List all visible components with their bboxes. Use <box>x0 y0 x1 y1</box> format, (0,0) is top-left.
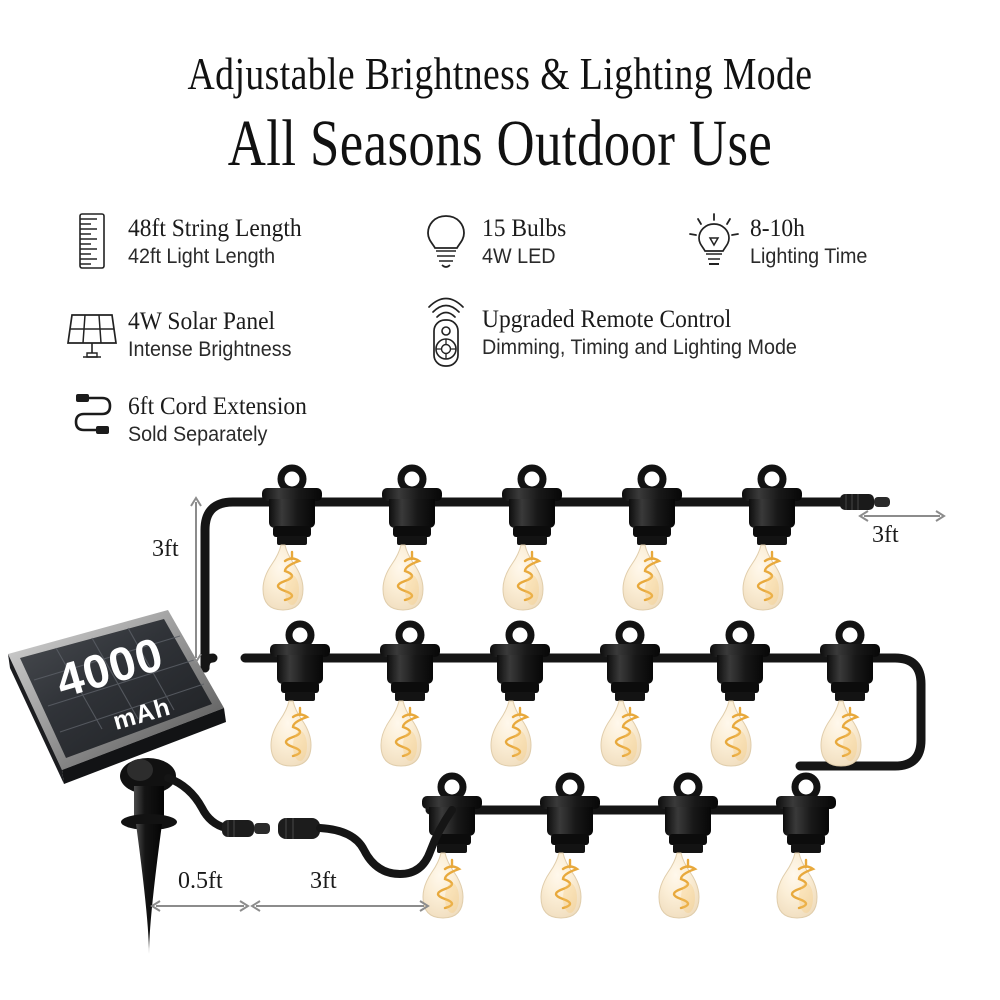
feature-text: Upgraded Remote Control Dimming, Timing … <box>482 303 817 361</box>
feature-lighting-time: 8-10h Lighting Time <box>688 212 875 270</box>
feature-solar-panel: 4W Solar Panel Intense Brightness <box>66 305 302 363</box>
bulb-row-2 <box>270 624 880 766</box>
solar-panel-unit: 4000 mAh <box>8 610 226 954</box>
feature-text: 8-10h Lighting Time <box>750 212 875 270</box>
feature-text: 15 Bulbs 4W LED <box>482 212 572 270</box>
feature-secondary: 4W LED <box>482 243 566 270</box>
product-diagram: 4000 mAh <box>0 440 1000 1000</box>
feature-primary: 6ft Cord Extension <box>128 392 307 421</box>
cord-connector-female <box>278 818 320 839</box>
feature-secondary: Lighting Time <box>750 243 867 270</box>
feature-primary: 48ft String Length <box>128 214 302 243</box>
feature-primary: 15 Bulbs <box>482 214 566 243</box>
feature-secondary: 42ft Light Length <box>128 243 302 270</box>
ruler-icon <box>66 212 118 270</box>
dimension-end-lead: 3ft <box>872 522 899 549</box>
dimension-stake-to-connector: 0.5ft <box>178 868 223 895</box>
feature-text: 48ft String Length 42ft Light Length <box>128 212 313 270</box>
feature-primary: 4W Solar Panel <box>128 307 292 336</box>
cord-connector-male <box>222 820 270 837</box>
feature-text: 4W Solar Panel Intense Brightness <box>128 305 302 363</box>
headline-line-1: Adjustable Brightness & Lighting Mode <box>90 48 910 100</box>
feature-secondary: Intense Brightness <box>128 336 292 363</box>
feature-secondary: Dimming, Timing and Lighting Mode <box>482 334 797 361</box>
dimension-drop-height: 3ft <box>152 536 179 563</box>
solar-panel-icon <box>66 305 118 363</box>
cord-end-connector <box>840 494 890 510</box>
feature-string-length: 48ft String Length 42ft Light Length <box>66 212 313 270</box>
remote-icon <box>420 303 472 361</box>
shining-bulb-icon <box>688 212 740 270</box>
feature-primary: Upgraded Remote Control <box>482 305 797 334</box>
dimension-connector-to-bulb: 3ft <box>310 868 337 895</box>
infographic-canvas: Adjustable Brightness & Lighting Mode Al… <box>0 0 1000 1000</box>
headline-line-2: All Seasons Outdoor Use <box>100 108 900 180</box>
feature-remote-control: Upgraded Remote Control Dimming, Timing … <box>420 303 817 361</box>
bulb-row-3 <box>422 776 836 918</box>
feature-primary: 8-10h <box>750 214 867 243</box>
feature-bulbs: 15 Bulbs 4W LED <box>420 212 572 270</box>
bulb-icon <box>420 212 472 270</box>
dimension-lines <box>152 498 944 911</box>
bulb-row-1 <box>262 468 802 610</box>
